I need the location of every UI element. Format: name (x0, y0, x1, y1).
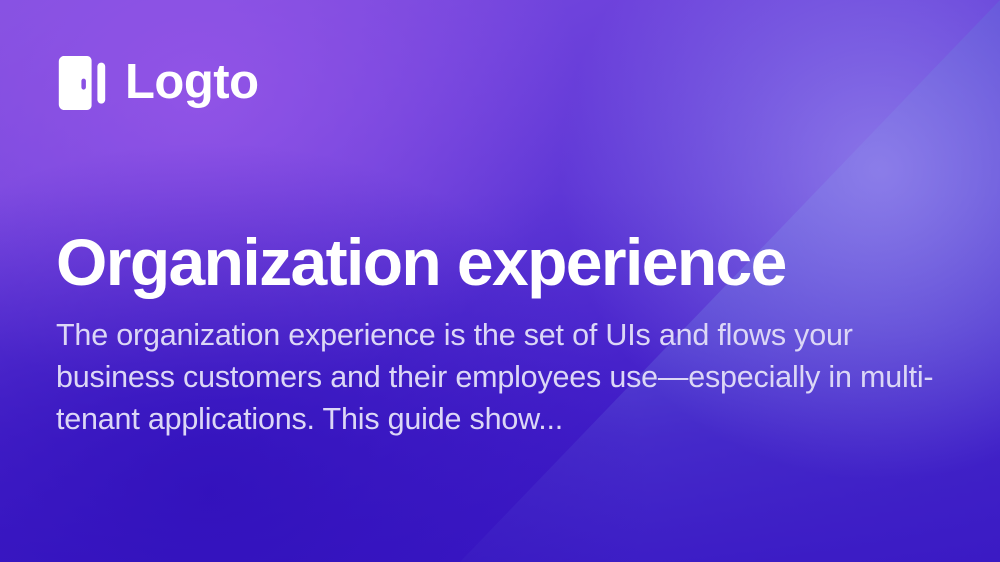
brand-name: Logto (125, 58, 259, 107)
social-share-card: Logto Organization experience The organi… (0, 0, 1000, 562)
card-content: Logto Organization experience The organi… (0, 0, 1000, 562)
door-icon (56, 53, 108, 113)
page-title: Organization experience (56, 228, 786, 298)
page-description: The organization experience is the set o… (56, 314, 958, 440)
brand-lockup: Logto (56, 52, 944, 114)
